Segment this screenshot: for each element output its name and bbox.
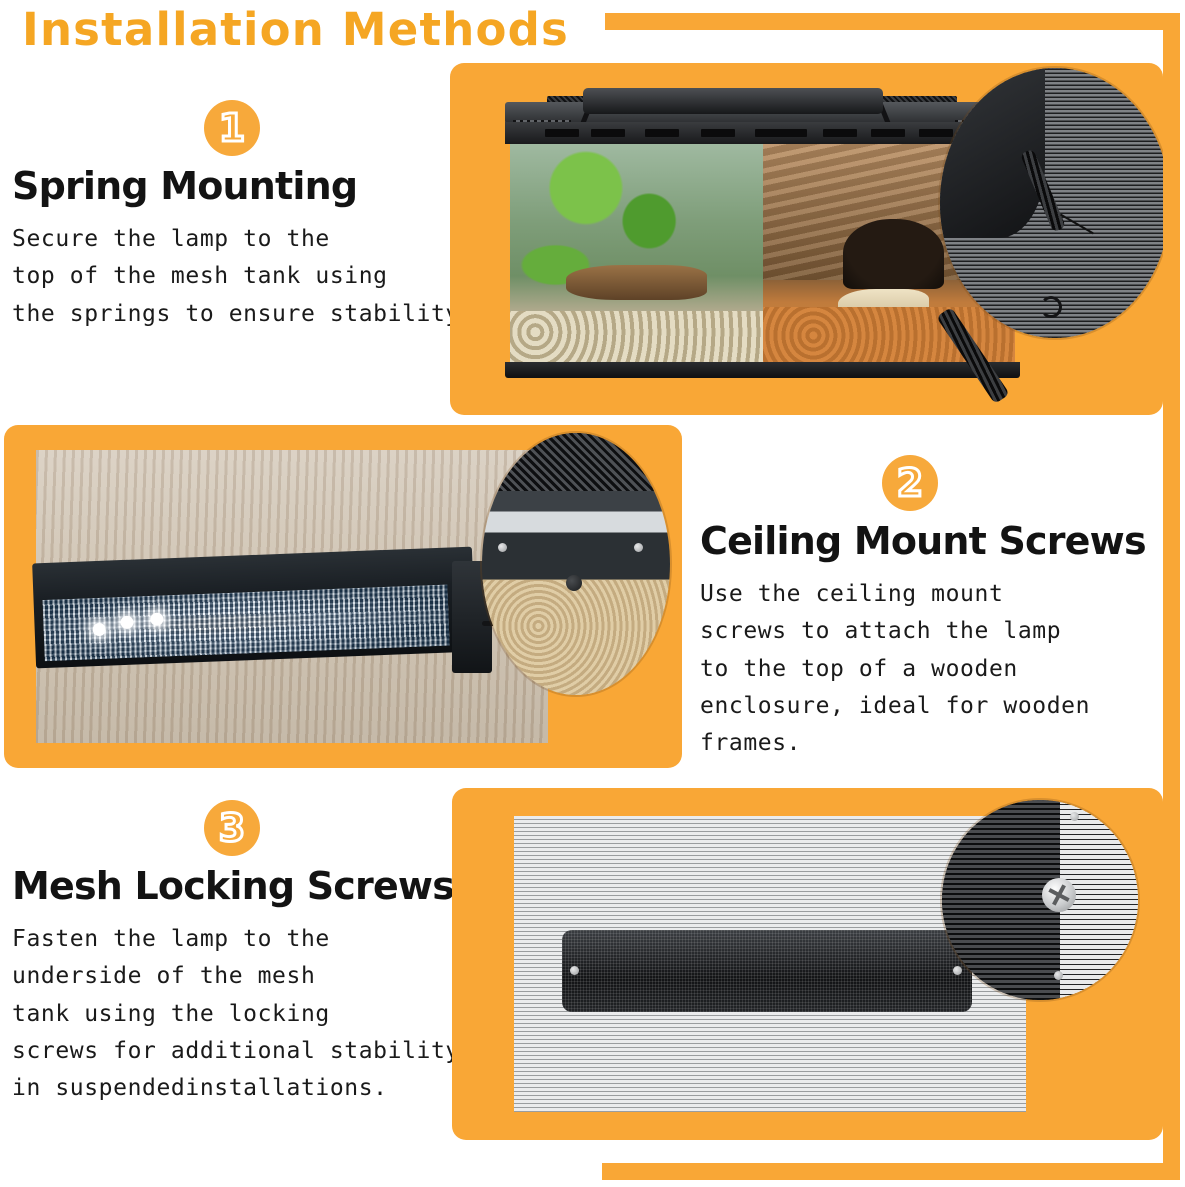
section-3-body: Fasten the lamp to the underside of the … [12,921,452,1107]
led-lamp-bar [583,88,883,114]
bracket-bolt-right [634,543,643,552]
spring-accessory-hook [1040,296,1062,318]
section-3-heading: Mesh Locking Screws [12,866,452,907]
section-3-body-line: tank using the locking [12,996,452,1033]
circled-number-three-icon: 3 [204,800,260,856]
locking-screw-inset [942,800,1138,1000]
inset-bolt-top [1070,812,1079,821]
circled-number-one-icon: 1 [204,100,260,156]
driftwood-decor [566,265,707,300]
mesh-texture-top [482,433,670,491]
section-1-text: 1 Spring Mounting Secure the lamp to the… [12,100,452,333]
mesh-locking-screw-head [1042,878,1076,912]
mesh-locking-photo [452,788,1163,1140]
wood-board-surface [482,580,670,695]
locking-screw-left [570,966,579,975]
led-light-output [42,584,449,660]
section-1-heading: Spring Mounting [12,166,452,207]
inset-bolt-bottom [1054,971,1063,980]
section-2-heading: Ceiling Mount Screws [700,521,1140,562]
section-3-body-line: Fasten the lamp to the [12,921,452,958]
section-2-body-line: frames. [700,725,1140,762]
section-2-body-line: Use the ceiling mount [700,576,1140,613]
section-3-body-line: underside of the mesh [12,958,452,995]
section-3-body-line: in suspendedinstallations. [12,1070,452,1107]
bracket-bolt-left [498,543,507,552]
cave-opening [843,219,944,289]
section-1-body-line: top of the mesh tank using [12,258,452,295]
section-2-text: 2 Ceiling Mount Screws Use the ceiling m… [700,455,1140,762]
section-2-body-line: to the top of a wooden [700,651,1140,688]
spring-mounting-photo [450,63,1163,415]
page-title: Installation Methods [22,3,569,56]
section-2-body-line: enclosure, ideal for wooden [700,688,1140,725]
frame-bottom-bar [602,1163,1163,1180]
circled-number-two-icon: 2 [882,455,938,511]
section-1-body-line: the springs to ensure stability. [12,296,452,333]
jungle-habitat-half [510,144,763,364]
frame-right-bar [1163,13,1180,1180]
section-3-text: 3 Mesh Locking Screws Fasten the lamp to… [12,800,452,1107]
lamp-under-mesh [562,930,972,1012]
ceiling-mount-photo [4,425,682,768]
section-3-body-line: screws for additional stability [12,1033,452,1070]
ceiling-mount-screw [566,575,582,591]
section-2-body: Use the ceiling mount screws to attach t… [700,576,1140,762]
led-lamp-bar-lit [32,547,476,669]
section-2-body-line: screws to attach the lamp [700,613,1140,650]
gravel-substrate [510,311,763,364]
frame-top-bar [605,13,1163,30]
bracket-on-wood [482,433,670,695]
tank-base [505,362,1020,378]
ceiling-bracket-inset [482,433,670,695]
section-1-body: Secure the lamp to the top of the mesh t… [12,221,452,333]
section-1-body-line: Secure the lamp to the [12,221,452,258]
